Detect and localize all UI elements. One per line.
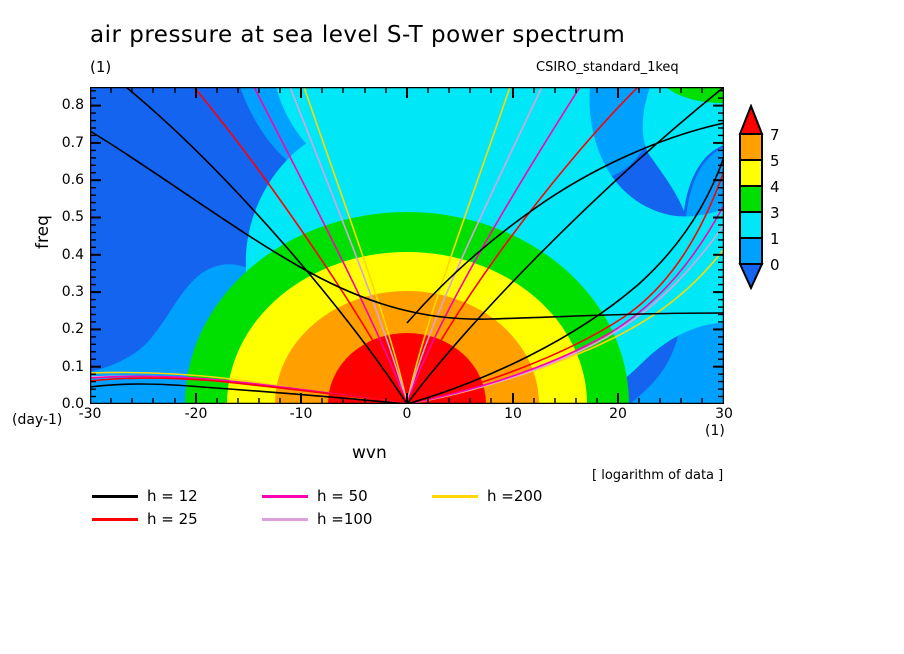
legend-line-swatch <box>92 518 138 521</box>
dataset-label: CSIRO_standard_1keq <box>536 60 679 75</box>
colorbar-band <box>740 238 762 264</box>
legend-label: h =200 <box>487 487 542 505</box>
y-tick-label: 0.8 <box>42 97 84 113</box>
colorbar-tick-label: 5 <box>770 152 794 170</box>
colorbar-tick-label: 4 <box>770 178 794 196</box>
data-transform-note: [ logarithm of data ] <box>592 468 723 483</box>
x-tick-label: -10 <box>278 406 324 422</box>
x-tick-label: 0 <box>384 406 430 422</box>
y-tick-label: 0.6 <box>42 172 84 188</box>
legend-line-swatch <box>92 495 138 498</box>
x-axis-units-label: (1) <box>705 423 725 439</box>
colorbar-under-arrow <box>740 264 762 288</box>
figure-canvas: air pressure at sea level S-T power spec… <box>0 0 904 654</box>
legend-label: h =100 <box>317 510 372 528</box>
legend-label: h = 12 <box>147 487 198 505</box>
x-tick-label: -20 <box>173 406 219 422</box>
legend-item-h25[interactable]: h = 25 <box>92 509 198 529</box>
colorbar-band <box>740 160 762 186</box>
legend-line-swatch <box>432 495 478 498</box>
x-tick-label: 20 <box>595 406 641 422</box>
legend-label: h = 50 <box>317 487 368 505</box>
legend-item-h200[interactable]: h =200 <box>432 486 542 506</box>
colorbar[interactable] <box>738 104 764 290</box>
legend-item-h100[interactable]: h =100 <box>262 509 372 529</box>
y-tick-label: 0.2 <box>42 321 84 337</box>
y-tick-label: 0.5 <box>42 209 84 225</box>
colorbar-band <box>740 186 762 212</box>
y-axis-units-label: (day-1) <box>12 412 62 428</box>
contour-plot <box>90 87 724 404</box>
y-tick-label: 0.1 <box>42 359 84 375</box>
colorbar-tick-label: 1 <box>770 230 794 248</box>
legend-line-swatch <box>262 495 308 498</box>
x-axis-title: wvn <box>352 443 387 463</box>
title-units-label: (1) <box>90 58 111 76</box>
x-tick-label: 30 <box>701 406 747 422</box>
y-tick-label: 0.7 <box>42 135 84 151</box>
colorbar-tick-label: 0 <box>770 256 794 274</box>
x-tick-label: 10 <box>490 406 536 422</box>
legend-label: h = 25 <box>147 510 198 528</box>
colorbar-tick-label: 3 <box>770 204 794 222</box>
legend-line-swatch <box>262 518 308 521</box>
colorbar-tick-label: 7 <box>770 126 794 144</box>
legend-item-h12[interactable]: h = 12 <box>92 486 198 506</box>
y-axis-title: freq <box>33 187 53 277</box>
y-tick-label: 0.4 <box>42 247 84 263</box>
x-tick-label: -30 <box>67 406 113 422</box>
colorbar-over-arrow <box>740 106 762 134</box>
page-title: air pressure at sea level S-T power spec… <box>90 22 625 48</box>
colorbar-band <box>740 212 762 238</box>
colorbar-band <box>740 134 762 160</box>
y-tick-label: 0.3 <box>42 284 84 300</box>
legend-item-h50[interactable]: h = 50 <box>262 486 368 506</box>
